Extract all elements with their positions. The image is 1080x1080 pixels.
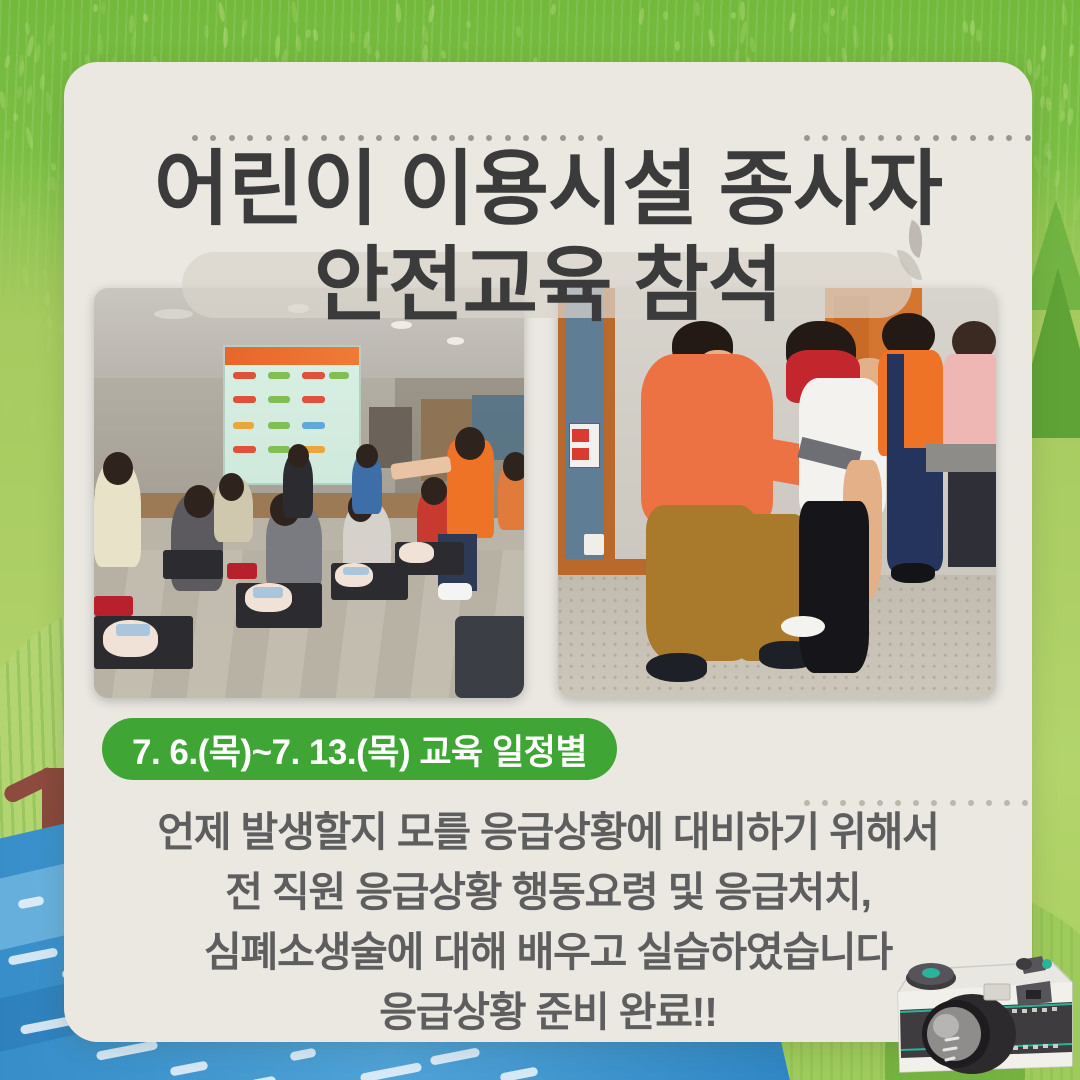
grass-blade	[1040, 44, 1047, 61]
grass-blade	[4, 397, 12, 416]
grass-blade	[21, 266, 30, 287]
grass-blade	[1043, 164, 1049, 179]
title-line-2-wrap: 안전교육 참석	[64, 238, 1032, 334]
grass-blade	[13, 113, 18, 121]
date-badge: 7. 6.(목)~7. 13.(목) 교육 일정별	[102, 718, 617, 780]
dot	[413, 135, 419, 141]
grass-blade	[33, 43, 41, 62]
grass-blade	[142, 14, 148, 23]
grass-blade	[1042, 75, 1049, 87]
grass-blade	[441, 49, 448, 59]
grass-blade	[45, 91, 52, 115]
camera-illustration	[884, 948, 1080, 1080]
grass-blade	[240, 18, 249, 37]
grass-blade	[29, 411, 35, 432]
dot	[449, 135, 455, 141]
dot	[486, 135, 492, 141]
grass-blade	[976, 29, 981, 42]
dot	[468, 135, 474, 141]
grass-blade	[886, 32, 893, 50]
grass-blade	[1045, 97, 1051, 111]
grass-blade	[24, 21, 31, 35]
grass-blade	[675, 41, 680, 51]
dotted-rule-left	[192, 135, 603, 141]
body-line-2: 전 직원 응급상황 행동요령 및 응급처치,	[64, 862, 1032, 922]
grass-blade	[823, 22, 829, 33]
dot	[376, 135, 382, 141]
grass-blade	[350, 31, 356, 43]
grass-blade	[1033, 64, 1041, 80]
cpr-training-photo	[94, 288, 524, 698]
dot	[859, 135, 865, 141]
grass-blade	[841, 5, 849, 21]
dot	[1025, 135, 1031, 141]
grass-blade	[788, 11, 797, 31]
dot	[284, 135, 290, 141]
grass-blade	[40, 74, 46, 90]
grass-blade	[46, 335, 53, 352]
grass-blade	[740, 1, 745, 21]
dot	[523, 135, 529, 141]
dot	[394, 135, 400, 141]
grass-blade	[1067, 108, 1074, 125]
grass-blade	[26, 85, 34, 104]
dot	[988, 135, 994, 141]
grass-blade	[5, 130, 11, 139]
grass-blade	[962, 20, 968, 33]
grass-blade	[1032, 156, 1040, 173]
equipment-case	[455, 616, 524, 698]
dot	[302, 135, 308, 141]
dot	[210, 135, 216, 141]
grass-blade	[98, 34, 104, 57]
grass-blade	[731, 12, 736, 19]
grass-blade	[551, 3, 557, 14]
dot	[914, 135, 920, 141]
grass-blade	[374, 50, 381, 60]
grass-blade	[46, 24, 55, 47]
title-line-2: 안전교육 참석	[64, 238, 1032, 334]
grass-blade	[18, 55, 23, 75]
grass-blade	[707, 29, 716, 47]
grass-blade	[275, 35, 281, 58]
dot	[878, 135, 884, 141]
dot	[192, 135, 198, 141]
grass-blade	[296, 35, 302, 52]
dot	[266, 135, 272, 141]
dot	[951, 135, 957, 141]
grass-blade	[1040, 94, 1046, 108]
grass-blade	[16, 85, 24, 99]
grass-blade	[62, 52, 67, 61]
grass-blade	[217, 2, 225, 22]
grass-blade	[739, 20, 748, 43]
dot	[339, 135, 345, 141]
grass-blade	[130, 31, 137, 55]
grass-blade	[830, 8, 835, 16]
page-title: 어린이 이용시설 종사자 안전교육 참석	[64, 142, 1032, 334]
dot	[841, 135, 847, 141]
title-line-1: 어린이 이용시설 종사자	[64, 142, 1032, 238]
grass-blade	[367, 45, 372, 55]
grass-blade	[1068, 44, 1074, 57]
grass-blade	[749, 37, 756, 53]
grass-blade	[466, 21, 472, 29]
grass-blade	[427, 5, 436, 24]
heimlich-demo-photo	[558, 288, 996, 698]
grass-blade	[515, 26, 521, 37]
grass-blade	[1059, 111, 1066, 122]
grass-blade	[129, 15, 135, 33]
dot	[578, 135, 584, 141]
grass-blade	[223, 27, 228, 48]
dot	[505, 135, 511, 141]
dot	[597, 135, 603, 141]
dotted-rule-right	[804, 135, 1032, 141]
grass-blade	[93, 4, 99, 12]
grass-blade	[970, 20, 975, 36]
dot	[247, 135, 253, 141]
grass-blade	[50, 177, 56, 192]
dot	[358, 135, 364, 141]
dot	[1006, 135, 1012, 141]
grass-blade	[1061, 2, 1068, 25]
grass-blade	[46, 316, 52, 329]
grass-blade	[663, 11, 668, 20]
grass-blade	[395, 3, 401, 24]
grass-blade	[1053, 169, 1061, 186]
grass-blade	[0, 91, 6, 110]
dot	[229, 135, 235, 141]
dot	[970, 135, 976, 141]
grass-blade	[1027, 59, 1033, 75]
date-badge-label: 7. 6.(목)~7. 13.(목) 교육 일정별	[132, 724, 587, 775]
dot	[541, 135, 547, 141]
dot	[822, 135, 828, 141]
grass-blade	[639, 8, 646, 25]
dot	[933, 135, 939, 141]
grass-blade	[3, 55, 10, 68]
dot	[896, 135, 902, 141]
grass-blade	[204, 25, 209, 38]
dot	[321, 135, 327, 141]
grass-blade	[694, 2, 700, 16]
grass-blade	[462, 40, 469, 50]
dot	[804, 135, 810, 141]
grass-blade	[20, 202, 25, 217]
dot	[560, 135, 566, 141]
body-line-1: 언제 발생할지 모를 응급상황에 대비하기 위해서	[64, 802, 1032, 862]
grass-blade	[305, 29, 311, 38]
poster-card: 어린이 이용시설 종사자 안전교육 참석	[64, 62, 1032, 1042]
grass-blade	[25, 127, 35, 150]
grass-blade	[421, 24, 429, 42]
grass-blade	[291, 1, 299, 23]
grass-blade	[42, 269, 49, 281]
grass-blade	[312, 29, 319, 42]
dot	[431, 135, 437, 141]
grass-blade	[50, 163, 56, 171]
grass-blade	[852, 25, 859, 49]
grass-blade	[101, 1, 106, 15]
